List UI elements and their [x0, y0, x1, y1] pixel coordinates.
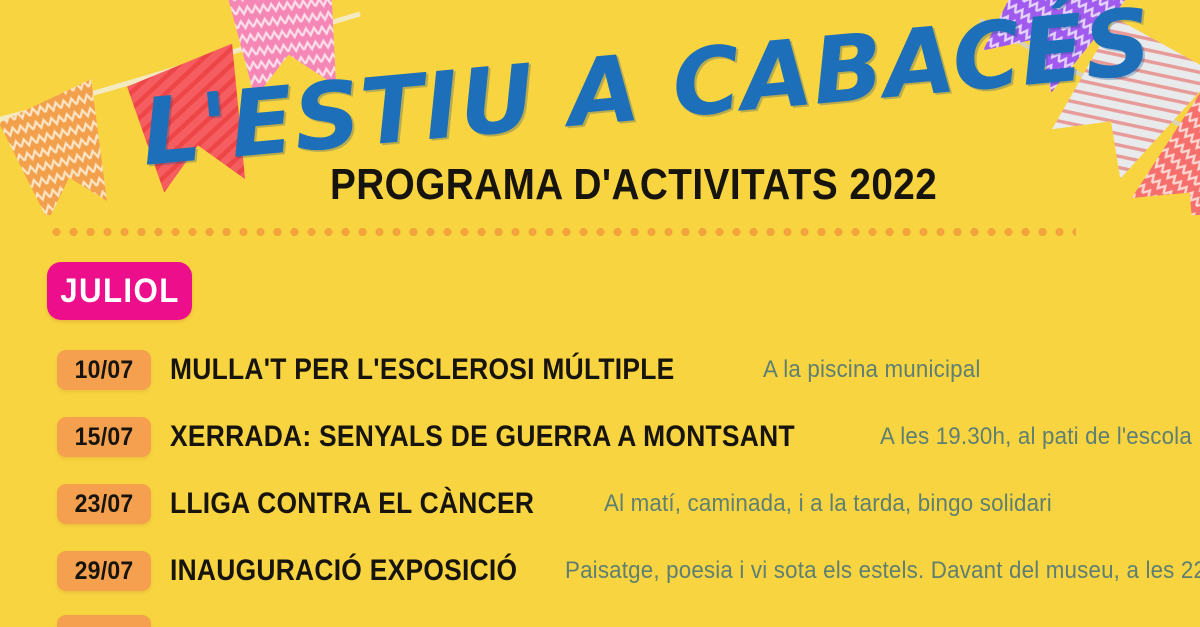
list-item: 10/07 MULLA'T PER L'ESCLEROSI MÚLTIPLE A…	[0, 347, 1200, 393]
list-item-partial	[0, 615, 1200, 627]
month-badge-juliol: JULIOL	[47, 262, 192, 320]
list-item: 23/07 LLIGA CONTRA EL CÀNCER Al matí, ca…	[0, 481, 1200, 527]
list-item: 15/07 XERRADA: SENYALS DE GUERRA A MONTS…	[0, 414, 1200, 460]
month-badge-label: JULIOL	[60, 272, 180, 311]
event-list: 10/07 MULLA'T PER L'ESCLEROSI MÚLTIPLE A…	[0, 347, 1200, 627]
event-description: Paisatge, poesia i vi sota els estels. D…	[565, 557, 1200, 585]
event-date-pill: 10/07	[57, 350, 151, 390]
event-date: 23/07	[75, 490, 134, 519]
event-date: 10/07	[75, 356, 134, 385]
page-title: L'ESTIU A CABACÉS	[137, 0, 1156, 187]
event-date: 15/07	[75, 423, 134, 452]
poster-header: L'ESTIU A CABACÉS PROGRAMA D'ACTIVITATS …	[0, 8, 1200, 158]
list-item: 29/07 INAUGURACIÓ EXPOSICIÓ Paisatge, po…	[0, 548, 1200, 594]
page-subtitle: PROGRAMA D'ACTIVITATS 2022	[330, 160, 937, 210]
event-date-pill: 29/07	[57, 551, 151, 591]
event-description: A les 19.30h, al pati de l'escola	[880, 423, 1192, 451]
event-description: A la piscina municipal	[763, 356, 980, 384]
event-date-pill	[57, 615, 151, 627]
event-date: 29/07	[75, 557, 134, 586]
event-date-pill: 23/07	[57, 484, 151, 524]
event-title: INAUGURACIÓ EXPOSICIÓ	[170, 554, 517, 588]
event-title: XERRADA: SENYALS DE GUERRA A MONTSANT	[170, 420, 795, 454]
dotted-divider	[48, 228, 1076, 236]
event-title: MULLA'T PER L'ESCLEROSI MÚLTIPLE	[170, 353, 675, 387]
event-description: Al matí, caminada, i a la tarda, bingo s…	[604, 490, 1052, 518]
event-date-pill: 15/07	[57, 417, 151, 457]
event-title: LLIGA CONTRA EL CÀNCER	[170, 487, 534, 521]
poster-canvas: L'ESTIU A CABACÉS PROGRAMA D'ACTIVITATS …	[0, 0, 1200, 627]
